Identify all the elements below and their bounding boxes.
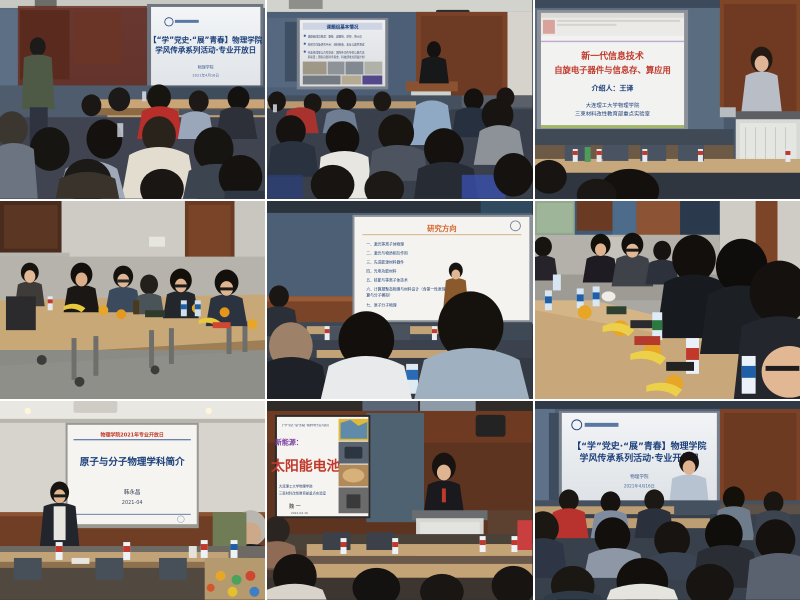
svg-text:原子与分子物理学科简介: 原子与分子物理学科简介	[80, 456, 185, 468]
svg-text:韩永昌: 韩永昌	[124, 488, 141, 496]
scene-auditorium-solar-cell-8: 【“学”党史·“展”青春】物理学院专业开放日 新能源： 太阳能电池 大连理工大学…	[267, 401, 532, 600]
scene-discussion-room-closeup-6	[535, 201, 800, 400]
svg-text:2021-04: 2021-04	[122, 500, 143, 506]
svg-text:代表性成果与合作交流：国内外合作单位与联合培: 代表性成果与合作交流：国内外合作单位与联合培	[308, 51, 365, 55]
scene-discussion-room-4	[0, 201, 265, 400]
svg-text:三束材料改性教育部重点实验室: 三束材料改性教育部重点实验室	[575, 110, 651, 118]
scene-lecture-hall-9: 【“学”党史·“展”青春】物理学院 学风传承系列活动·专业开放日 物理学院 20…	[535, 401, 800, 600]
svg-text:太阳能电池: 太阳能电池	[270, 458, 341, 475]
projection-screen-small	[537, 203, 573, 233]
svg-text:2021年4月16日: 2021年4月16日	[192, 72, 219, 77]
svg-text:四、光电功能材料: 四、光电功能材料	[367, 268, 397, 273]
photo-panel-9[interactable]: 【“学”党史·“展”青春】物理学院 学风传承系列活动·专业开放日 物理学院 20…	[535, 401, 800, 600]
svg-text:学风传承系列活动·专业开放日: 学风传承系列活动·专业开放日	[155, 45, 256, 55]
svg-text:介绍人：王译: 介绍人：王译	[590, 83, 634, 92]
eyeglasses-icon	[175, 284, 188, 287]
svg-text:课题组成员构成：教授、副教授、讲师、博士后: 课题组成员构成：教授、副教授、讲师、博士后	[308, 35, 363, 39]
scene-meeting-room-atomic-molecular-7: 物理学院2021年专业开放日 原子与分子物理学科简介 韩永昌 2021-04	[0, 401, 265, 600]
svg-text:五、核能与等离子体技术: 五、核能与等离子体技术	[367, 277, 409, 282]
photo-collage-grid: 【“学”党史·“展”青春】物理学院 学风传承系列活动·专业开放日 物理学院 20…	[0, 0, 800, 600]
photo-panel-1[interactable]: 【“学”党史·“展”青春】物理学院 学风传承系列活动·专业开放日 物理学院 20…	[0, 0, 265, 199]
scene-lecture-hall-1: 【“学”党史·“展”青春】物理学院 学风传承系列活动·专业开放日 物理学院 20…	[0, 0, 265, 199]
svg-text:【“学”党史·“展”青春】物理学院专业开放日: 【“学”党史·“展”青春】物理学院专业开放日	[281, 423, 329, 427]
photo-panel-6[interactable]	[535, 201, 800, 400]
photo-panel-7[interactable]: 物理学院2021年专业开放日 原子与分子物理学科简介 韩永昌 2021-04	[0, 401, 265, 600]
svg-text:课题组基本情况: 课题组基本情况	[327, 23, 359, 30]
svg-text:养项目；国家自然科学基金、科技部重点研发计划: 养项目；国家自然科学基金、科技部重点研发计划	[308, 55, 365, 59]
scene-classroom-research-directions-5: 研究方向 一、激光等离子体物理 二、激光与物质相互作用 三、先进能源材料器件 四…	[267, 201, 532, 400]
svg-text:【“学”党史·“展”青春】物理学院: 【“学”党史·“展”青春】物理学院	[149, 35, 263, 45]
mobile-phone	[666, 362, 694, 371]
svg-text:六、计算凝聚态物理与材料设计（含第一性原理计: 六、计算凝聚态物理与材料设计（含第一性原理计	[367, 286, 450, 291]
svg-text:物理学院: 物理学院	[198, 65, 214, 70]
eyeglasses-icon	[53, 495, 67, 498]
svg-text:三束材料改性教育部重点实验室: 三束材料改性教育部重点实验室	[279, 491, 327, 496]
svg-text:自旋电子器件与信息存、算应用: 自旋电子器件与信息存、算应用	[554, 65, 671, 75]
photo-panel-8[interactable]: 【“学”党史·“展”青春】物理学院专业开放日 新能源： 太阳能电池 大连理工大学…	[267, 401, 532, 600]
ceiling-light	[206, 408, 212, 414]
svg-text:算与分子模拟）: 算与分子模拟）	[367, 292, 393, 297]
eyeglasses-icon	[220, 287, 234, 290]
svg-text:三、先进能源材料器件: 三、先进能源材料器件	[367, 259, 405, 264]
slide-image-grid	[303, 62, 382, 85]
svg-text:2021年4月16日: 2021年4月16日	[624, 483, 655, 489]
svg-text:物理学院: 物理学院	[630, 473, 649, 480]
chairs	[14, 558, 187, 580]
svg-text:二、激光与物质相互作用: 二、激光与物质相互作用	[367, 250, 409, 255]
svg-text:研究方向: 研究方向	[428, 223, 457, 232]
svg-text:魏 一: 魏 一	[289, 502, 301, 510]
scene-classroom-podium-2: 课题组基本情况 课题组成员构成：教授、副教授、讲师、博士后 科研方向及研究平台：…	[267, 0, 532, 199]
svg-text:物理学院2021年专业开放日: 物理学院2021年专业开放日	[100, 432, 163, 439]
svg-text:大连理工大学物理学院: 大连理工大学物理学院	[585, 101, 639, 109]
chair	[6, 296, 36, 330]
scene-seminar-room-3: 新一代信息技术 自旋电子器件与信息存、算应用 介绍人：王译 大连理工大学物理学院…	[535, 0, 800, 199]
ceiling-projector	[74, 401, 118, 413]
eyeglasses-icon	[117, 279, 130, 282]
slide-photo-column	[339, 419, 369, 513]
photo-panel-3[interactable]: 新一代信息技术 自旋电子器件与信息存、算应用 介绍人：王译 大连理工大学物理学院…	[535, 0, 800, 199]
svg-text:2021.04.16: 2021.04.16	[291, 512, 308, 516]
svg-text:科研方向及研究平台：材料制备、表征与器件测试: 科研方向及研究平台：材料制备、表征与器件测试	[308, 43, 365, 47]
wall-speaker	[476, 415, 506, 437]
ceiling-light	[25, 408, 31, 414]
svg-text:大连理工大学物理学院: 大连理工大学物理学院	[279, 484, 313, 489]
svg-text:七、原子分子物理: 七、原子分子物理	[367, 302, 397, 307]
photo-panel-2[interactable]: 课题组基本情况 课题组成员构成：教授、副教授、讲师、博士后 科研方向及研究平台：…	[267, 0, 532, 199]
svg-text:【“学”党史·“展”青春】物理学院: 【“学”党史·“展”青春】物理学院	[572, 441, 706, 453]
mobile-phone	[630, 320, 652, 328]
eyeglasses-icon	[625, 248, 639, 251]
svg-text:新一代信息技术: 新一代信息技术	[581, 50, 644, 62]
photo-panel-5[interactable]: 研究方向 一、激光等离子体物理 二、激光与物质相互作用 三、先进能源材料器件 四…	[267, 201, 532, 400]
photo-panel-4[interactable]	[0, 201, 265, 400]
eyeglasses-icon	[765, 366, 799, 371]
svg-text:新能源：: 新能源：	[275, 438, 303, 447]
svg-text:一、激光等离子体物理: 一、激光等离子体物理	[367, 241, 405, 246]
